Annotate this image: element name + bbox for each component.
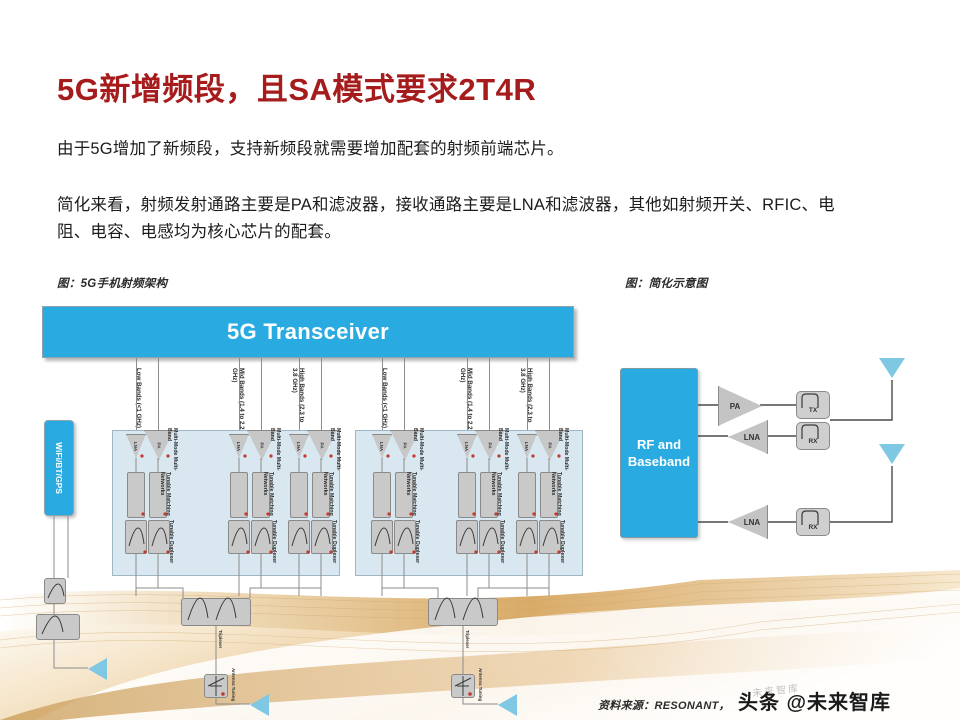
tunable-matching-label: Tunable Matching Networks [159, 472, 171, 518]
duplexer-filter [311, 520, 333, 554]
antenna-icon [879, 444, 905, 464]
rx-filter: RX [796, 422, 830, 450]
duplexer-filter [456, 520, 478, 554]
tunable-duplexer-label: Tunable Duplexer [559, 520, 565, 566]
multi-mode-label: Multi-Mode Multi-Band [557, 428, 569, 474]
duplexer-filter [479, 520, 501, 554]
antenna-tuner [204, 674, 228, 698]
body-paragraph-1: 由于5G增加了新频段，支持新频段就需要增加配套的射频前端芯片。 [57, 136, 564, 163]
rx-matching-network [373, 472, 391, 518]
wifi-diplexer [36, 614, 80, 640]
rx-matching-network [230, 472, 248, 518]
rx-filter-label: RX [808, 524, 817, 531]
multi-mode-label: Multi-Mode Multi-Band [166, 428, 178, 474]
wifi-filter [44, 578, 66, 604]
multi-mode-label: Multi-Mode Multi-Band [269, 428, 281, 474]
watermark-logo: 头条 @未来智库 [738, 686, 891, 715]
rx-matching-network [518, 472, 536, 518]
page-title: 5G新增频段，且SA模式要求2T4R [57, 64, 536, 109]
figure-simplified-rf-chain: RF and Baseband PA LNA LNA TX [600, 340, 950, 590]
duplexer-filter [516, 520, 538, 554]
tunable-duplexer-label: Tunable Duplexer [414, 520, 420, 566]
triplexer-block [181, 598, 251, 626]
duplexer-filter [539, 520, 561, 554]
tunable-matching-label: Tunable Matching Networks [262, 472, 274, 518]
antenna-tuner [451, 674, 475, 698]
duplexer-filter [125, 520, 147, 554]
tx-filter: TX [796, 391, 830, 419]
duplexer-filter [228, 520, 250, 554]
multi-mode-label: Multi-Mode Multi-Band [497, 428, 509, 474]
duplexer-filter [394, 520, 416, 554]
duplexer-filter [371, 520, 393, 554]
tunable-duplexer-label: Tunable Duplexer [168, 520, 174, 566]
tunable-matching-label: Tunable Matching Networks [490, 472, 502, 518]
duplexer-filter [288, 520, 310, 554]
rx-filter: RX [796, 508, 830, 536]
tunable-duplexer-label: Tunable Duplexer [331, 520, 337, 566]
tx-filter-label: TX [809, 407, 817, 414]
rx-matching-network [127, 472, 145, 518]
lna-label: LNA [744, 433, 760, 442]
antenna-icon [250, 694, 269, 716]
duplexer-filter [251, 520, 273, 554]
lna-label: LNA [744, 518, 760, 527]
antenna-icon [498, 694, 517, 716]
body-paragraph-2: 简化来看，射频发射通路主要是PA和滤波器，接收通路主要是LNA和滤波器，其他如射… [57, 192, 857, 246]
rx-filter-label: RX [808, 438, 817, 445]
antenna-icon [88, 658, 107, 680]
triplexer-label: Triplexer [218, 630, 223, 648]
rx-matching-network [458, 472, 476, 518]
figure-5g-rf-architecture: 5G Transceiver WiFi/BT/GPS Low Bands (<1… [18, 296, 588, 708]
antenna-tuning-label: Antenna Tuning [231, 668, 236, 701]
tunable-duplexer-label: Tunable Duplexer [271, 520, 277, 566]
multi-mode-label: Multi-Mode Multi-Band [329, 428, 341, 474]
tunable-matching-label: Tunable Matching Networks [322, 472, 334, 518]
slide-root: 5G新增频段，且SA模式要求2T4R 由于5G增加了新频段，支持新频段就需要增加… [0, 0, 960, 720]
duplexer-filter [148, 520, 170, 554]
triplexer-label: Triplexer [465, 630, 470, 648]
source-note: 资料来源：RESONANT， [598, 697, 730, 713]
tunable-matching-label: Tunable Matching Networks [405, 472, 417, 518]
rx-matching-network [290, 472, 308, 518]
antenna-tuning-label: Antenna Tuning [478, 668, 483, 701]
figure-caption-right: 图：简化示意图 [625, 275, 708, 291]
triplexer-block [428, 598, 498, 626]
figure-caption-left: 图：5G手机射频架构 [57, 275, 167, 291]
multi-mode-label: Multi-Mode Multi-Band [412, 428, 424, 474]
antenna-icon [879, 358, 905, 378]
tunable-matching-label: Tunable Matching Networks [550, 472, 562, 518]
tunable-duplexer-label: Tunable Duplexer [499, 520, 505, 566]
pa-label: PA [730, 402, 741, 411]
